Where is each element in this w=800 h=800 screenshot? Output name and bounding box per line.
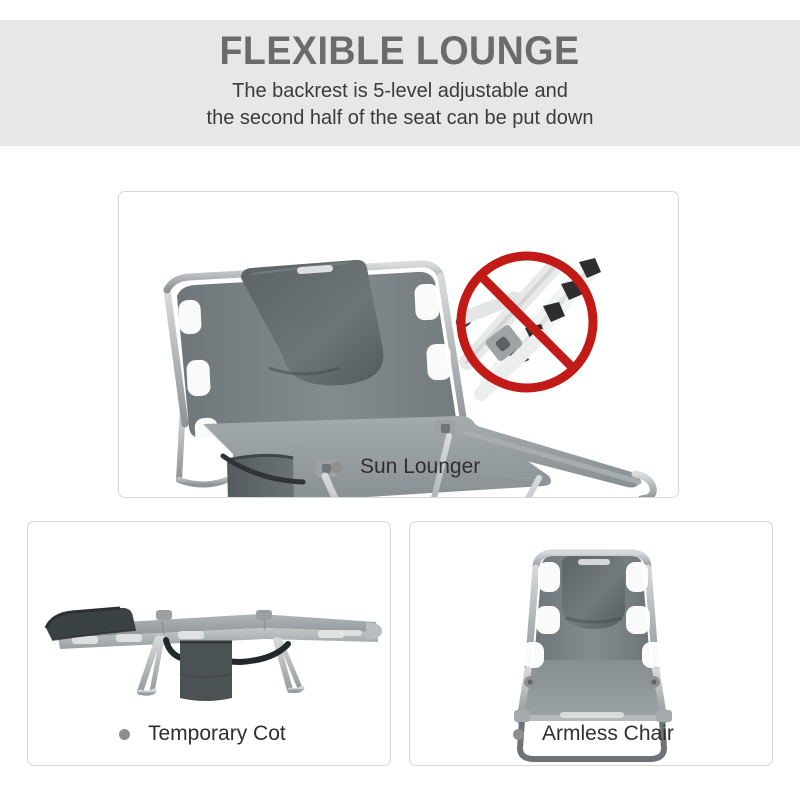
subtitle-line-1: The backrest is 5-level adjustable and bbox=[207, 78, 594, 105]
sun-lounger-illustration bbox=[119, 192, 678, 497]
subtitle-line-2: the second half of the seat can be put d… bbox=[207, 105, 594, 132]
panel-temporary-cot[interactable]: Temporary Cot bbox=[27, 521, 391, 766]
caption-armless-chair: Armless Chair bbox=[513, 723, 674, 745]
page-title: FLEXIBLE LOUNGE bbox=[220, 28, 580, 74]
header-band: FLEXIBLE LOUNGE The backrest is 5-level … bbox=[0, 20, 800, 146]
caption-temporary-cot: Temporary Cot bbox=[119, 723, 286, 745]
bullet-icon bbox=[331, 462, 342, 473]
panel-sun-lounger[interactable]: Sun Lounger bbox=[118, 191, 679, 498]
header-subtitle: The backrest is 5-level adjustable and t… bbox=[207, 78, 594, 132]
bullet-icon bbox=[513, 729, 524, 740]
prohibition-badge bbox=[453, 256, 601, 394]
caption-label: Sun Lounger bbox=[360, 456, 480, 478]
caption-label: Temporary Cot bbox=[148, 723, 286, 745]
caption-sun-lounger: Sun Lounger bbox=[331, 456, 480, 478]
panel-armless-chair[interactable]: Armless Chair bbox=[409, 521, 773, 766]
caption-label: Armless Chair bbox=[542, 723, 674, 745]
sun-lounger-graphic bbox=[119, 192, 679, 498]
bullet-icon bbox=[119, 729, 130, 740]
